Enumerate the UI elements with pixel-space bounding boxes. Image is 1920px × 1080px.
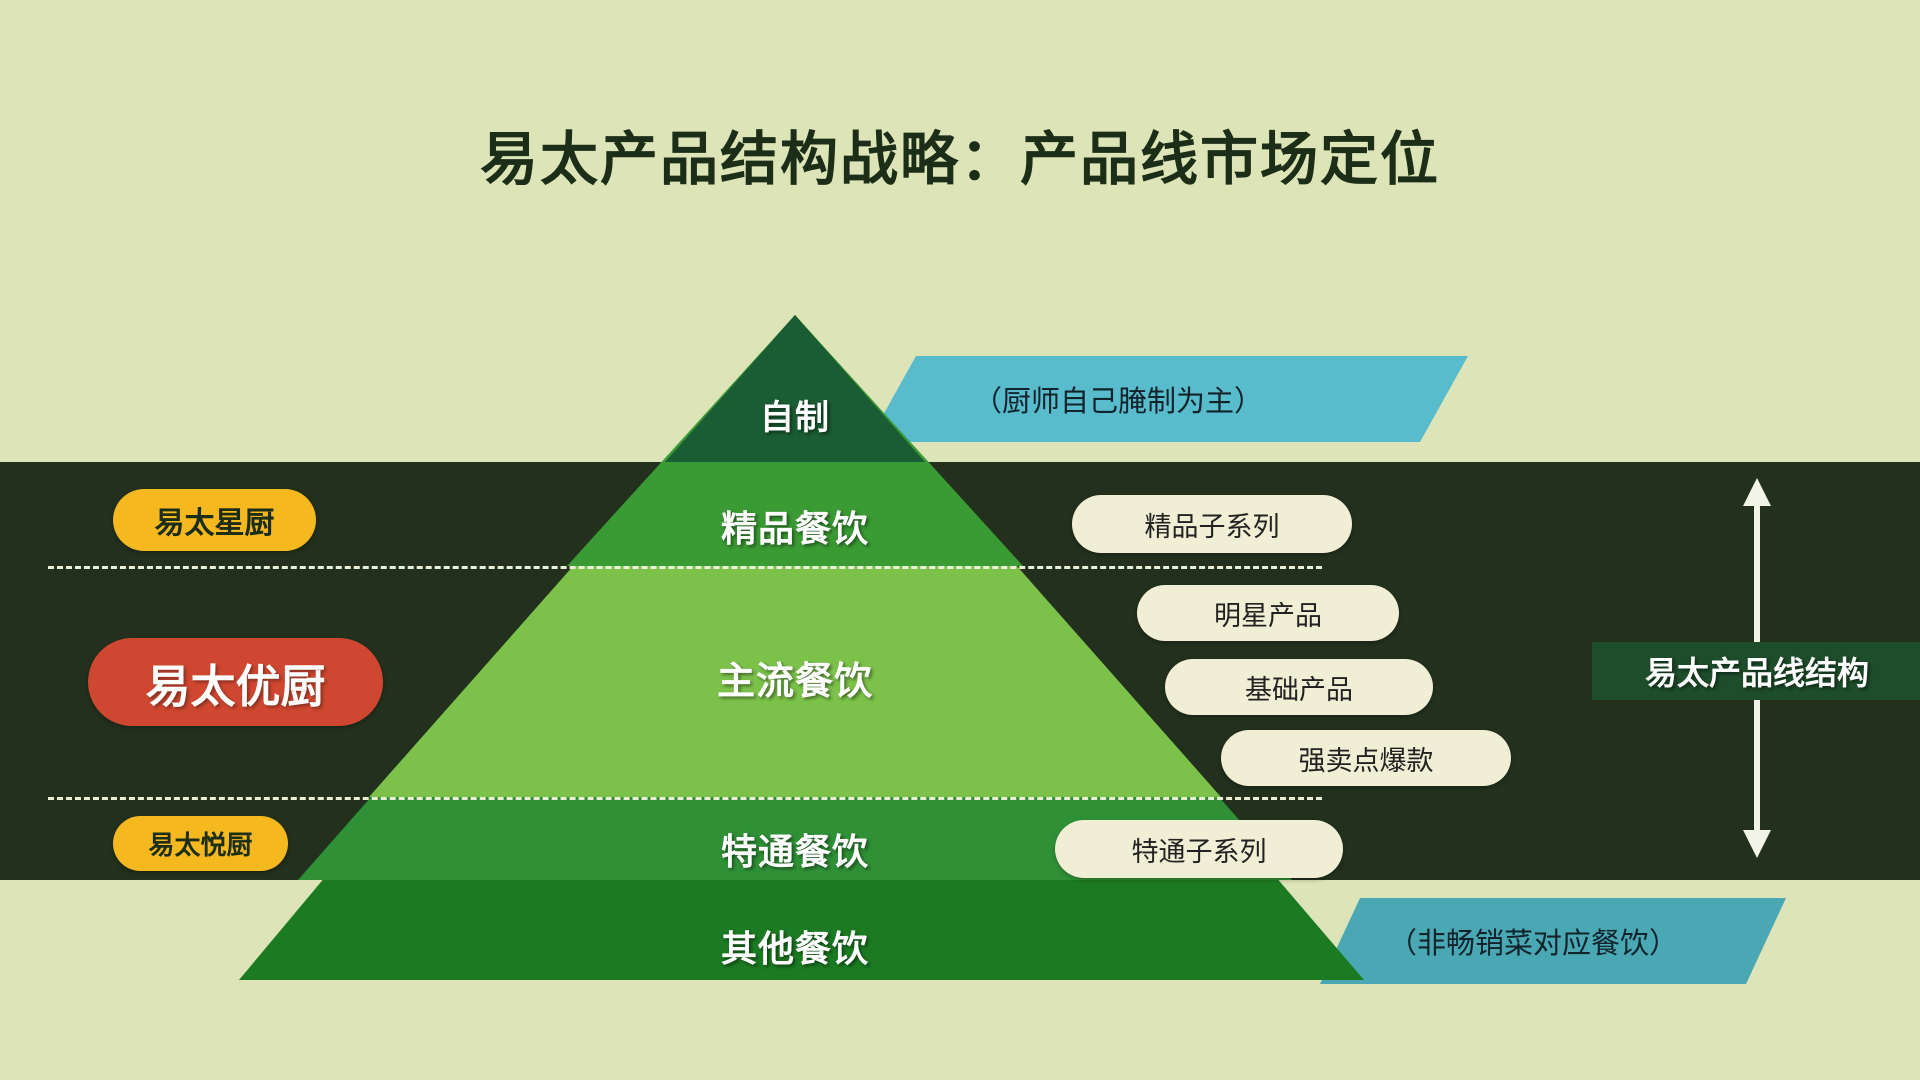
brand-badge-joy[interactable]: 易太悦厨 xyxy=(113,816,288,871)
product-pill-star-product[interactable]: 明星产品 xyxy=(1137,585,1399,641)
slide-canvas: 易太产品结构战略：产品线市场定位 （厨师自己腌制为主） （非畅销菜对应餐饮） 自… xyxy=(0,0,1920,1080)
divider-premium-mainstream xyxy=(48,566,1322,569)
brand-badge-premium[interactable]: 易太优厨 xyxy=(88,638,383,726)
pyramid-tier-selfmade xyxy=(665,315,925,462)
product-pill-hot-seller[interactable]: 强卖点爆款 xyxy=(1221,730,1511,786)
product-pill-premium-series[interactable]: 精品子系列 xyxy=(1072,495,1352,553)
pyramid-label-other: 其他餐饮 xyxy=(0,920,1590,972)
product-pill-basic-product[interactable]: 基础产品 xyxy=(1165,659,1433,715)
divider-mainstream-special xyxy=(48,797,1322,800)
product-line-structure-label: 易太产品线结构 xyxy=(1592,642,1920,700)
pyramid-label-selfmade: 自制 xyxy=(0,390,1590,439)
brand-badge-star[interactable]: 易太星厨 xyxy=(113,489,316,551)
product-pill-special-series[interactable]: 特通子系列 xyxy=(1055,820,1343,878)
